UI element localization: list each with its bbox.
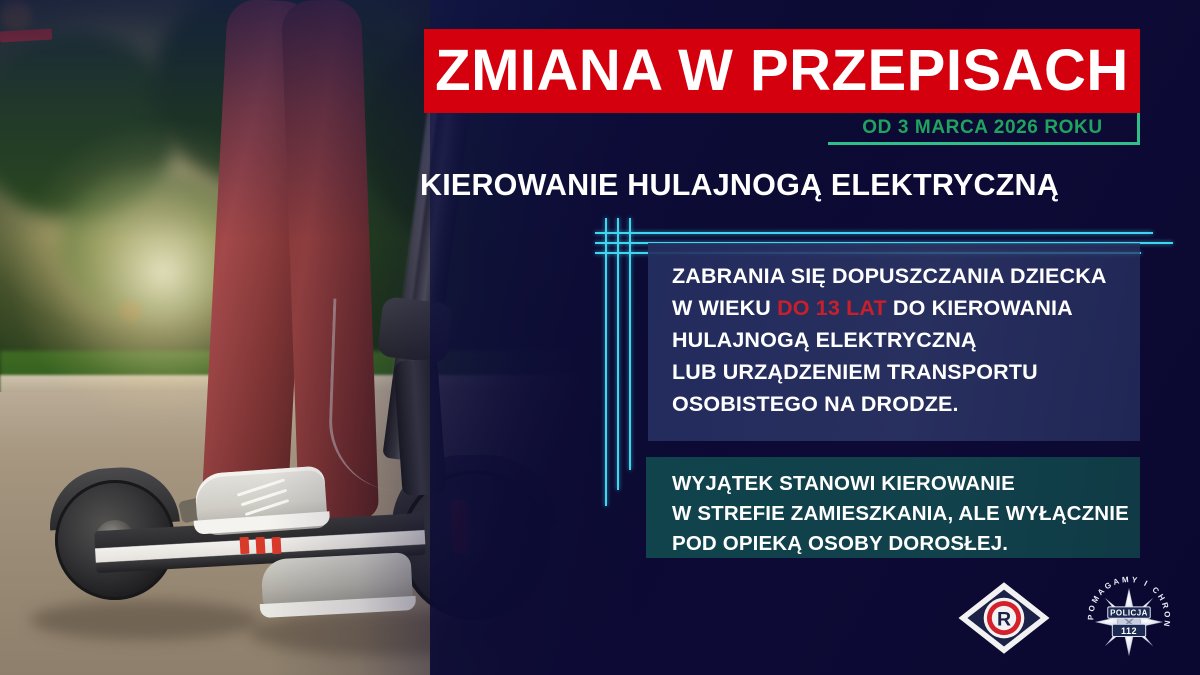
lens-flare-dot [120,300,142,322]
main-rule-line: LUB URZĄDZENIEM TRANSPORTU [672,356,1132,388]
main-rule-line: W WIEKU DO 13 LAT DO KIEROWANIA [672,292,1132,324]
line-text: ZABRANIA SIĘ DOPUSZCZANIA DZIECKA [672,264,1107,288]
exception-line: POD OPIEKĄ OSOBY DOROSŁEJ. [672,529,1132,559]
fabric-highlight [0,0,32,30]
banner-title-text: ZMIANA W PRZEPISACH [435,42,1129,100]
exception-line: WYJĄTEK STANOWI KIEROWANIE [672,469,1132,499]
main-rule-line: HULAJNOGĄ ELEKTRYCZNĄ [672,324,1132,356]
logo-group: R POMAGAMY I CHRONIMY [955,575,1180,663]
police-star-badge-icon: POMAGAMY I CHRONIMY [1083,575,1175,663]
main-rule-line: ZABRANIA SIĘ DOPUSZCZANIA DZIECKA [672,260,1132,292]
line-text: DO KIEROWANIA [887,296,1073,320]
main-rule-panel: ZABRANIA SIĘ DOPUSZCZANIA DZIECKA W WIEK… [648,243,1140,441]
line-text: W WIEKU [672,296,777,320]
line-text: OSOBISTEGO NA DRODZE. [672,392,959,416]
police-banner-text: POLICJA [1110,609,1148,618]
effective-date-text: OD 3 MARCA 2026 ROKU [862,117,1102,139]
exception-panel: WYJĄTEK STANOWI KIEROWANIE W STREFIE ZAM… [646,457,1140,558]
poster-canvas: ZMIANA W PRZEPISACH OD 3 MARCA 2026 ROKU… [0,0,1200,675]
deck-stripe [256,537,266,554]
ground-shadow [30,600,260,640]
line-text: HULAJNOGĄ ELEKTRYCZNĄ [672,328,977,352]
title-banner: ZMIANA W PRZEPISACH [424,29,1140,113]
subtitle-text: KIEROWANIE HULAJNOGĄ ELEKTRYCZNĄ [420,168,1059,203]
effective-date-box: OD 3 MARCA 2026 ROKU [828,113,1140,145]
subtitle-row: KIEROWANIE HULAJNOGĄ ELEKTRYCZNĄ [420,163,1180,207]
age-limit-highlight: DO 13 LAT [777,296,887,320]
main-rule-lines: ZABRANIA SIĘ DOPUSZCZANIA DZIECKA W WIEK… [672,260,1132,420]
deck-stripe [272,537,282,554]
main-rule-line: OSOBISTEGO NA DRODZE. [672,388,1132,420]
deck-stripe [240,537,250,554]
line-text: LUB URZĄDZENIEM TRANSPORTU [672,360,1038,384]
exception-lines: WYJĄTEK STANOWI KIEROWANIE W STREFIE ZAM… [672,469,1132,559]
police-emergency-number-text: 112 [1121,626,1137,636]
traffic-police-diamond-icon: R [955,579,1053,657]
exception-line: W STREFIE ZAMIESZKANIA, ALE WYŁĄCZNIE [672,499,1132,529]
diamond-letter-r: R [997,608,1011,630]
